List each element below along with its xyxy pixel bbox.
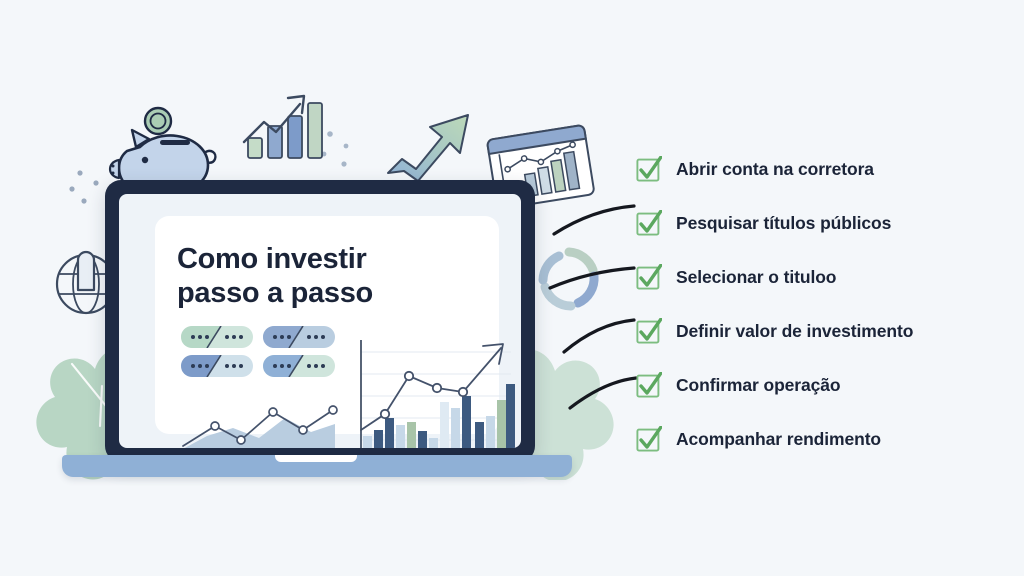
slide-visuals	[169, 324, 489, 424]
checkbox-checked-icon[interactable]	[636, 318, 662, 344]
checklist-item[interactable]: Abrir conta na corretora	[636, 142, 996, 196]
chip-item	[181, 326, 253, 348]
chip-item	[263, 326, 335, 348]
laptop-frame: Como investir passo a passo	[105, 180, 535, 462]
combo-chart-panel	[347, 324, 489, 424]
checklist-item-label: Selecionar o tituloo	[676, 267, 836, 288]
checkbox-checked-icon[interactable]	[636, 264, 662, 290]
chip-item	[181, 355, 253, 377]
checkbox-checked-icon[interactable]	[636, 156, 662, 182]
infographic-canvas: Como investir passo a passo	[0, 0, 1024, 576]
checkbox-checked-icon[interactable]	[636, 372, 662, 398]
checklist-item-label: Confirmar operação	[676, 375, 841, 396]
checklist-item[interactable]: Definir valor de investimento	[636, 304, 996, 358]
checklist-item[interactable]: Selecionar o tituloo	[636, 250, 996, 304]
checklist-item[interactable]: Pesquisar títulos públicos	[636, 196, 996, 250]
checklist: Abrir conta na corretora Pesquisar títul…	[636, 142, 996, 466]
laptop-notch	[275, 455, 357, 462]
checklist-item-label: Definir valor de investimento	[676, 321, 913, 342]
laptop-screen: Como investir passo a passo	[119, 194, 521, 448]
combo-chart	[347, 326, 515, 448]
checkbox-checked-icon[interactable]	[636, 210, 662, 236]
page-title: Como investir passo a passo	[177, 242, 499, 310]
chip-group	[181, 326, 335, 377]
checkbox-checked-icon[interactable]	[636, 426, 662, 452]
checklist-item-label: Abrir conta na corretora	[676, 159, 874, 180]
checklist-item-label: Pesquisar títulos públicos	[676, 213, 891, 234]
area-chart	[175, 388, 341, 448]
checklist-item-label: Acompanhar rendimento	[676, 429, 881, 450]
slide-card: Como investir passo a passo	[155, 216, 499, 434]
upward-arrow-icon	[378, 105, 478, 187]
chips-and-area-panel	[169, 324, 341, 424]
chip-item	[263, 355, 335, 377]
checklist-item[interactable]: Confirmar operação	[636, 358, 996, 412]
checklist-item[interactable]: Acompanhar rendimento	[636, 412, 996, 466]
bar-chart-growth-icon	[238, 86, 338, 164]
